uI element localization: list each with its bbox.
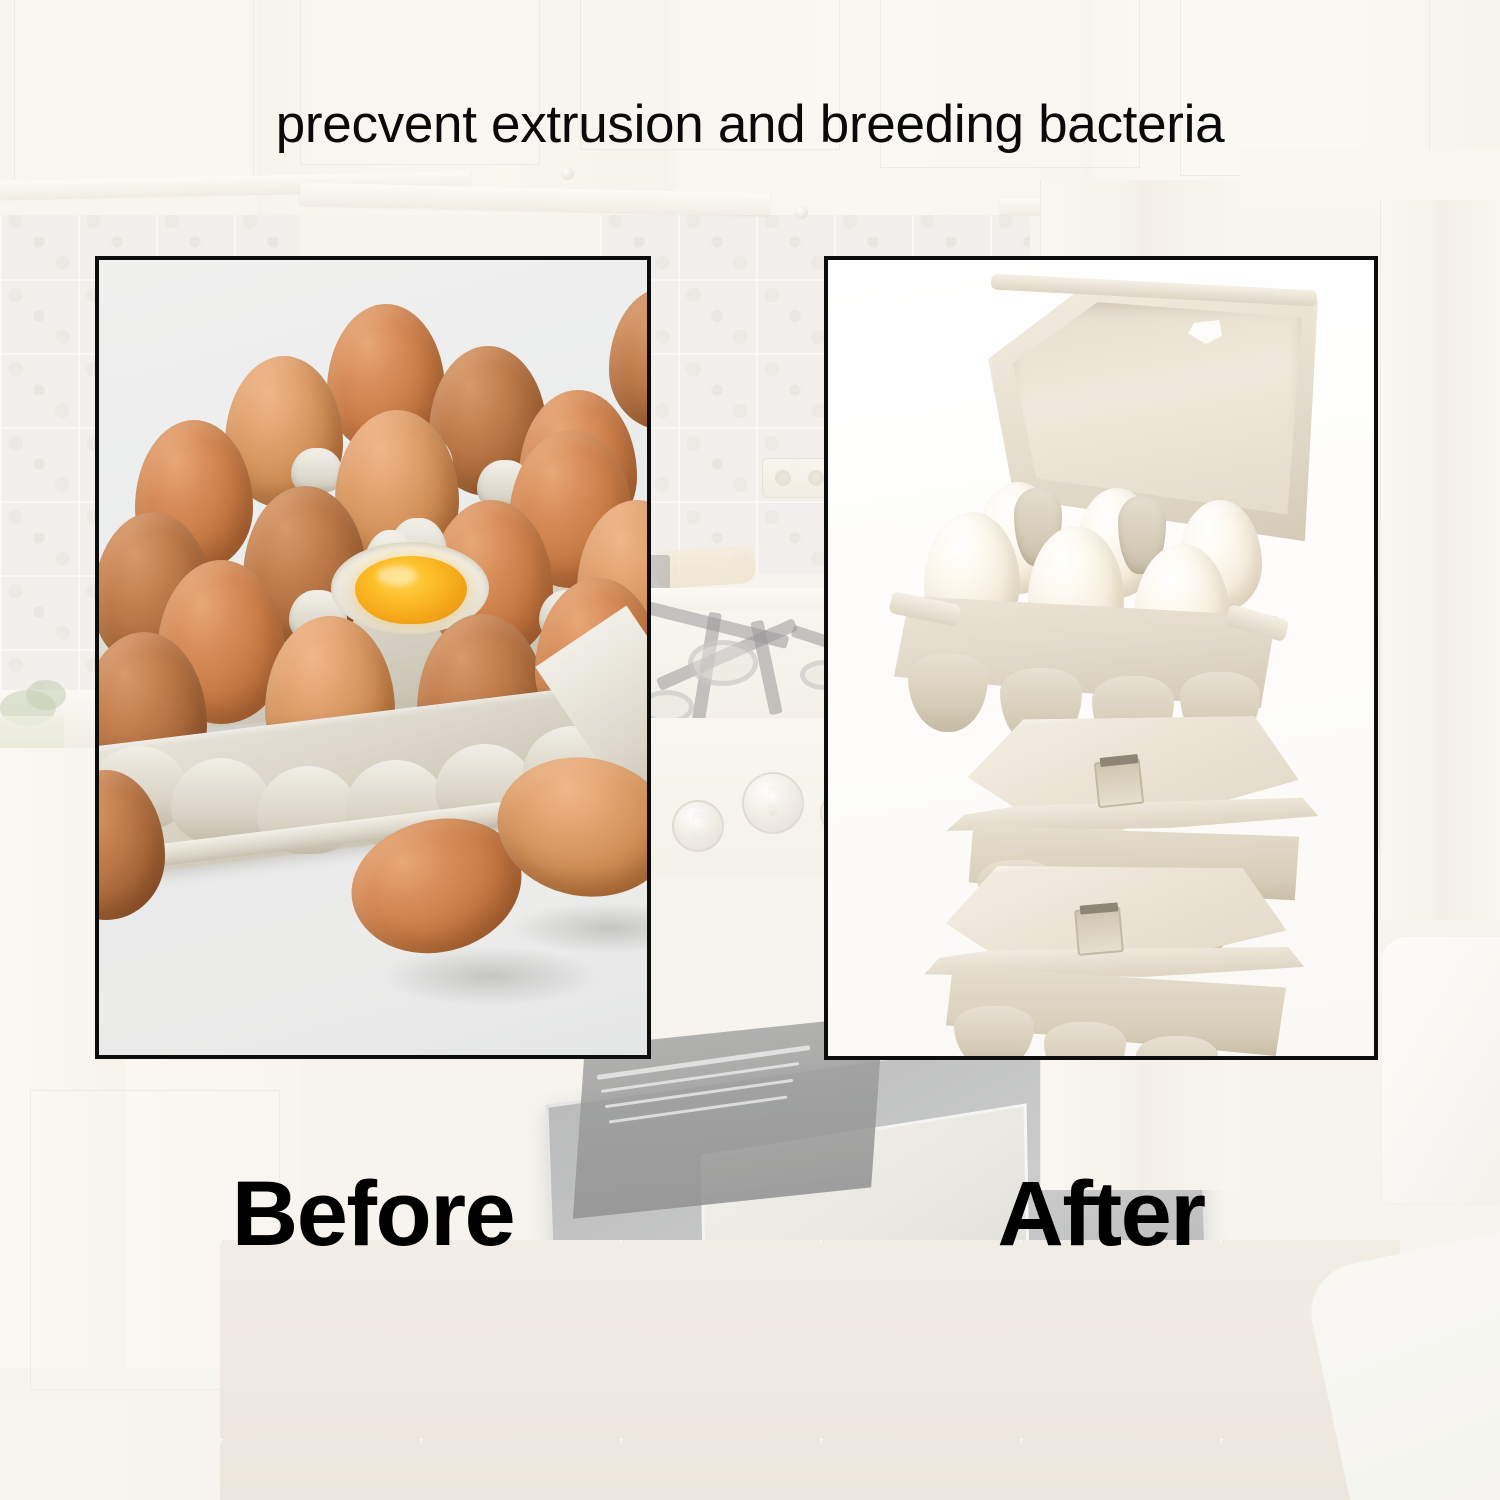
loose-egg-shadow-1 (379, 946, 599, 1006)
yolk-highlight (377, 566, 417, 586)
after-image-panel (824, 256, 1378, 1060)
page-title: precvent extrusion and breeding bacteria (0, 98, 1500, 151)
before-label: Before (95, 1168, 651, 1260)
before-image-panel (95, 256, 651, 1059)
egg-yolk (355, 556, 467, 624)
after-label: After (824, 1168, 1378, 1260)
lower-carton-bump-2 (1044, 1022, 1126, 1060)
lower-carton-bump-1 (954, 1006, 1034, 1060)
